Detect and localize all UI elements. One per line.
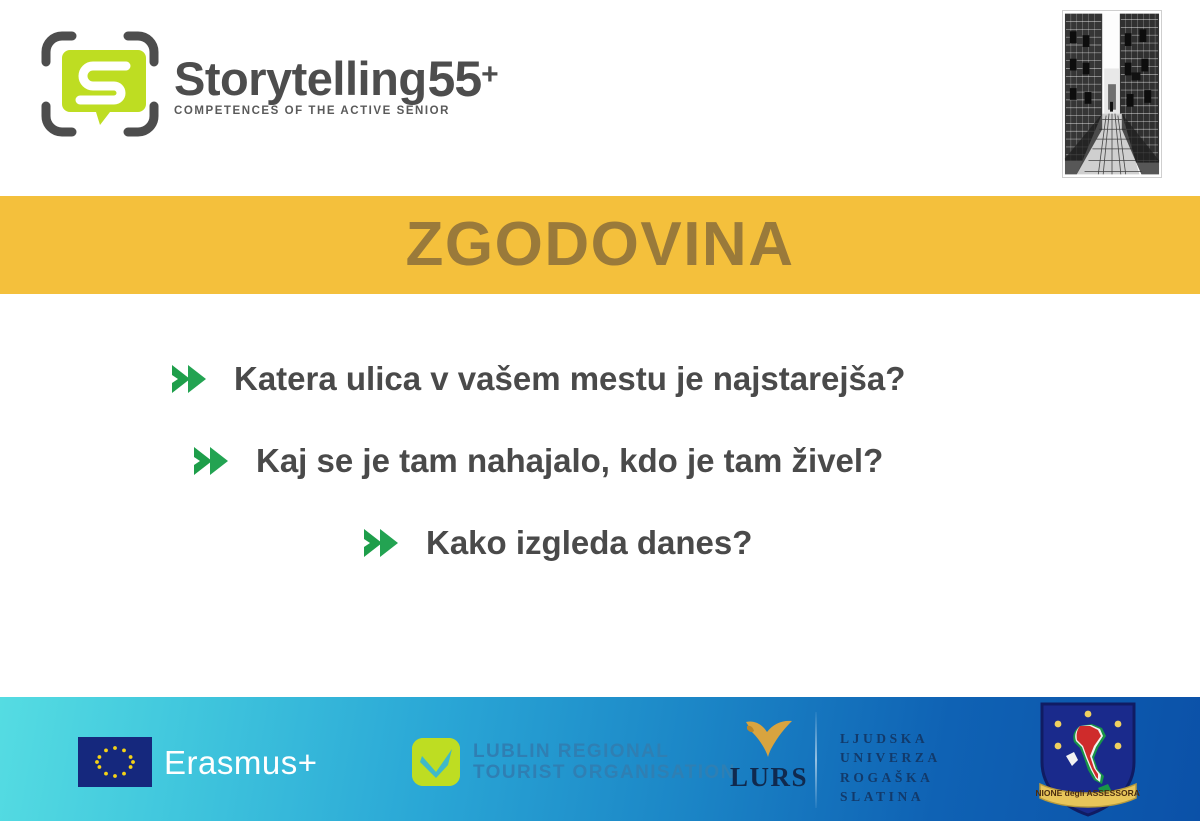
lurs-gold-bird-mark-icon bbox=[740, 718, 798, 760]
erasmus-plus-logo: Erasmus+ bbox=[78, 737, 317, 787]
list-item: Kaj se je tam nahajalo, kdo je tam živel… bbox=[0, 437, 1200, 485]
brand-plus: + bbox=[481, 60, 499, 90]
slide-header: Storytelling 55 + COMPETENCES OF THE ACT… bbox=[0, 0, 1200, 190]
page-title: ZGODOVINA bbox=[406, 214, 795, 276]
green-chevron-bullet-icon bbox=[168, 355, 216, 403]
list-item-label: Kaj se je tam nahajalo, kdo je tam živel… bbox=[256, 443, 883, 479]
list-item-label: Kako izgleda danes? bbox=[426, 525, 752, 561]
brand-number: 55 bbox=[428, 56, 482, 102]
svg-text:UNIONE degli ASSESSORATI: UNIONE degli ASSESSORATI bbox=[1036, 788, 1140, 798]
european-union-flag-icon bbox=[78, 737, 152, 787]
slide-canvas: Storytelling 55 + COMPETENCES OF THE ACT… bbox=[0, 0, 1200, 821]
ljudska-line-3: ROGAŠKA bbox=[840, 768, 933, 787]
lublin-line-2: Tourist Organisation bbox=[473, 762, 736, 783]
lublin-line-1: Lublin Regional bbox=[473, 741, 669, 762]
erasmus-plus-label: Erasmus+ bbox=[164, 746, 317, 779]
footer-divider bbox=[815, 712, 817, 808]
ljudska-univerza-rogaska-slatina-logo: LJUDSKA UNIVERZA ROGAŠKA SLATINA bbox=[840, 729, 941, 807]
brand-title: Storytelling bbox=[174, 57, 427, 102]
storytelling-s-bubble-logo-icon bbox=[38, 28, 162, 140]
brand-wordmark: Storytelling 55 + COMPETENCES OF THE ACT… bbox=[174, 52, 499, 117]
lurs-label: LURS bbox=[730, 764, 808, 791]
lurs-logo: LURS bbox=[730, 718, 808, 791]
ljudska-line-2: UNIVERZA bbox=[840, 748, 941, 767]
list-item-label: Katera ulica v vašem mestu je najstarejš… bbox=[234, 361, 905, 397]
brand-lockup: Storytelling 55 + COMPETENCES OF THE ACT… bbox=[38, 28, 499, 140]
list-item: Katera ulica v vašem mestu je najstarejš… bbox=[0, 355, 1200, 403]
bullet-list: Katera ulica v vašem mestu je najstarejš… bbox=[0, 355, 1200, 601]
ljudska-line-1: LJUDSKA bbox=[840, 729, 928, 748]
unione-degli-assessorati-crest-icon: UNIONE degli ASSESSORATI bbox=[1036, 700, 1140, 818]
lublin-wordmark: Lublin Regional Tourist Organisation bbox=[473, 741, 736, 784]
green-chevron-bullet-icon bbox=[360, 519, 408, 567]
lublin-regional-tourist-organisation-logo: Lublin Regional Tourist Organisation bbox=[412, 738, 736, 786]
ljudska-line-4: SLATINA bbox=[840, 787, 924, 806]
list-item: Kako izgleda danes? bbox=[0, 519, 1200, 567]
brand-subtitle: COMPETENCES OF THE ACTIVE SENIOR bbox=[174, 105, 499, 117]
lublin-check-mark-icon bbox=[412, 738, 460, 786]
old-street-engraving-image bbox=[1062, 10, 1162, 178]
title-banner: ZGODOVINA bbox=[0, 196, 1200, 294]
green-chevron-bullet-icon bbox=[190, 437, 238, 485]
brand-title-row: Storytelling 55 + bbox=[174, 56, 499, 102]
